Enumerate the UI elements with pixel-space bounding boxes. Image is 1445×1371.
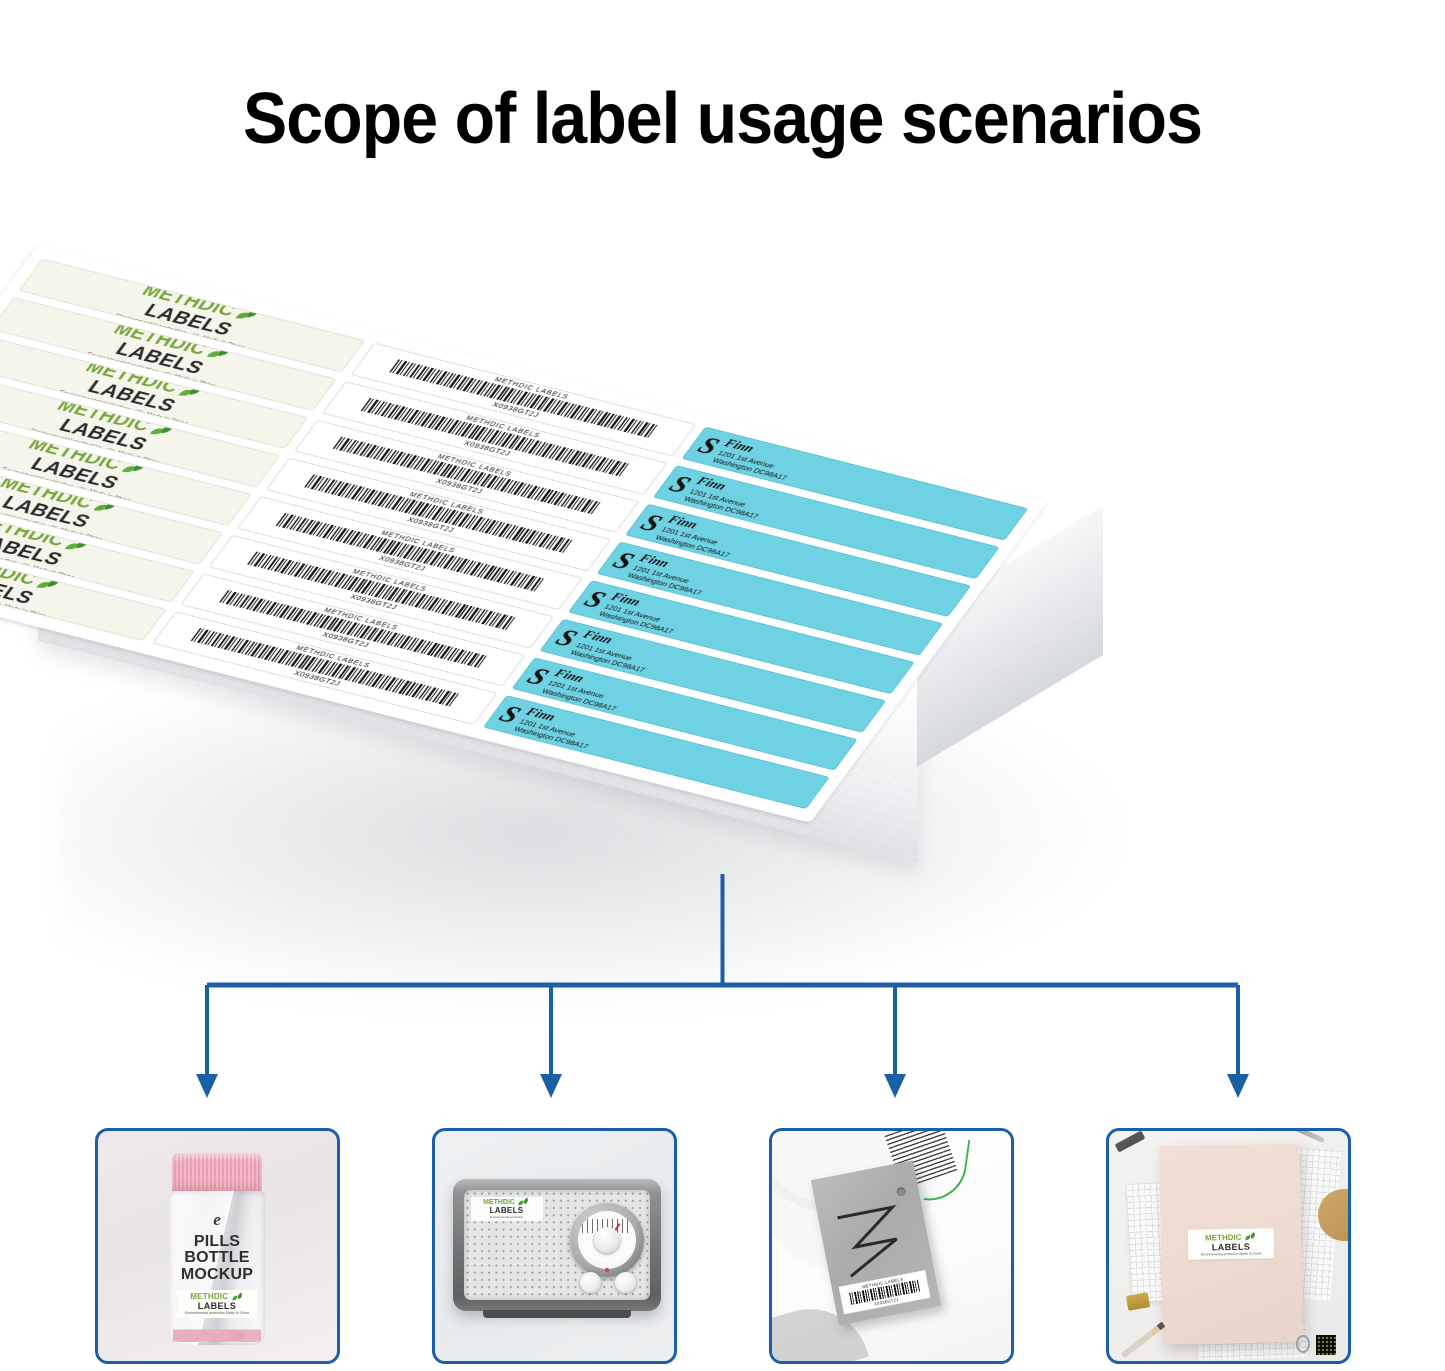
- notebook-cover: METHDIC LABELS Environmental protection …: [1159, 1144, 1302, 1344]
- radio-brand-sticker: METHDIC LABELS Environmental protection: [471, 1197, 543, 1221]
- pills-bottle-image: e PILLS BOTTLE MOCKUP METHDIC LABELS: [169, 1153, 265, 1345]
- brand-tagline-right: Made in China: [1239, 1251, 1261, 1255]
- arrow-down-icon: [1227, 1074, 1249, 1098]
- arrow-down-icon: [196, 1074, 218, 1098]
- brand-name-primary: METHDIC: [483, 1199, 515, 1206]
- tagline-separator: ==: [104, 447, 114, 454]
- bottle-cap: [172, 1153, 262, 1194]
- bottle-title-line-2: BOTTLE: [169, 1250, 265, 1266]
- tagline-separator: ==: [0, 601, 1, 608]
- binder-clip-icon: [1114, 1130, 1145, 1152]
- bottle-body: e PILLS BOTTLE MOCKUP METHDIC LABELS: [169, 1191, 265, 1345]
- infographic-page: Scope of label usage scenarios METHDIC: [0, 0, 1445, 1371]
- radio-knob-tone: [615, 1272, 636, 1293]
- label-sheet-stack-illustration: METHDIC LABELS Environmental protection …: [0, 215, 1445, 905]
- pencil-sharpener-icon: [1125, 1292, 1149, 1311]
- bottle-title-line-1: PILLS: [169, 1234, 265, 1250]
- brand-tagline-right: Made in China: [226, 1311, 249, 1315]
- tagline-separator: ==: [132, 409, 142, 416]
- tagline-separator: ==: [47, 524, 57, 531]
- desk-object-ring: [1296, 1335, 1310, 1353]
- brand-tagline-left: Environmental protection: [490, 1215, 523, 1219]
- radio-control-knobs: [580, 1272, 636, 1293]
- scenario-panels: e PILLS BOTTLE MOCKUP METHDIC LABELS: [0, 1128, 1445, 1368]
- brand-name-secondary: LABELS: [177, 1301, 257, 1311]
- retro-radio-image: METHDIC LABELS Environmental protection: [453, 1179, 661, 1311]
- page-title: Scope of label usage scenarios: [58, 78, 1387, 160]
- tagline-separator: ==: [161, 370, 171, 377]
- tagline-separator: ==: [76, 486, 86, 493]
- bottle-monogram-icon: e: [169, 1211, 265, 1228]
- pencil-icon: [1120, 1322, 1165, 1359]
- leaf-icon: [518, 1199, 529, 1205]
- scenario-panel-garment-hang-tag[interactable]: METHDIC LABELS X0938GT2J: [769, 1128, 1014, 1364]
- brand-name-secondary: LABELS: [490, 1206, 524, 1215]
- radio-knob-volume: [580, 1272, 601, 1293]
- qr-code-icon: [1316, 1335, 1336, 1355]
- dial-knob: [594, 1227, 620, 1253]
- notebook-brand-sticker: METHDIC LABELS Environmental protection …: [1187, 1228, 1274, 1259]
- pills-inside: [173, 1326, 261, 1342]
- paper-ream: METHDIC LABELS Environmental protection …: [38, 245, 1068, 845]
- brand-tagline-left: Environmental protection: [185, 1311, 225, 1315]
- scenario-panel-retro-radio[interactable]: METHDIC LABELS Environmental protection: [432, 1128, 677, 1364]
- tagline-separator: ==: [189, 332, 199, 339]
- bottle-title-line-3: MOCKUP: [169, 1267, 265, 1283]
- connector-tree: [0, 860, 1445, 1130]
- leaf-icon: [232, 1294, 243, 1300]
- leaf-icon: [1244, 1234, 1255, 1240]
- arrow-down-icon: [884, 1074, 906, 1098]
- radio-base: [483, 1310, 631, 1318]
- pen-icon: [1280, 1128, 1324, 1143]
- scenario-panel-pills-bottle[interactable]: e PILLS BOTTLE MOCKUP METHDIC LABELS: [95, 1128, 340, 1364]
- bottle-brand-sticker: METHDIC LABELS Environmental protection …: [177, 1290, 257, 1318]
- radio-speaker-grille: METHDIC LABELS Environmental protection: [464, 1190, 650, 1300]
- arrow-down-icon: [540, 1074, 562, 1098]
- leaf-icon: [204, 346, 232, 362]
- connector-arrowheads: [196, 1074, 1249, 1098]
- brand-tagline-left: Environmental protection: [1200, 1251, 1238, 1256]
- scenario-panel-notebook[interactable]: METHDIC LABELS Environmental protection …: [1106, 1128, 1351, 1364]
- tagline-separator: ==: [19, 562, 29, 569]
- lightning-bolt-icon: [828, 1191, 916, 1282]
- leaf-icon: [90, 499, 118, 515]
- brand-name-primary: METHDIC: [190, 1292, 228, 1301]
- radio-tuning-dial: [570, 1203, 644, 1277]
- brand-name-secondary: LABELS: [1211, 1241, 1250, 1252]
